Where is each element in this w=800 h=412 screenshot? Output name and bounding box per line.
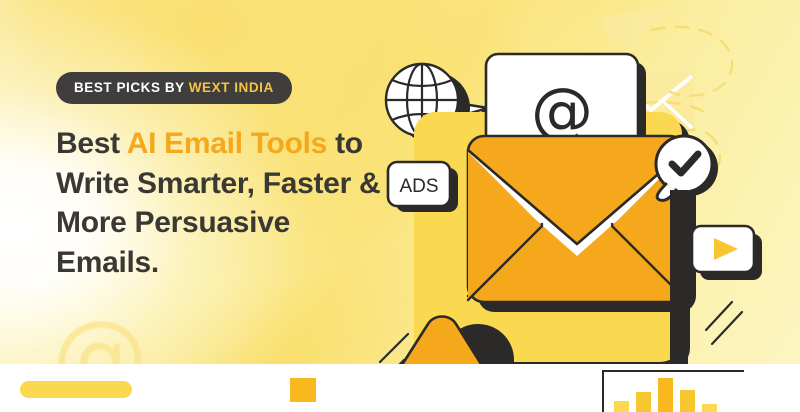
bar-chart-bars <box>614 370 736 412</box>
vertical-accent-bar <box>670 190 688 372</box>
play-button-icon <box>692 226 762 280</box>
bottom-strip <box>0 364 800 412</box>
headline-part-1: Best <box>56 127 127 160</box>
email-illustration: @ <box>370 0 800 412</box>
bar-chart-bar <box>636 392 651 412</box>
badge-brand: WEXT INDIA <box>189 80 274 95</box>
promotional-banner: @ BEST PICKS BY WEXT INDIA Best AI Email… <box>0 0 800 412</box>
badge-prefix: BEST PICKS BY <box>74 80 184 95</box>
eyebrow-badge: BEST PICKS BY WEXT INDIA <box>56 72 292 104</box>
decor-speed-lines-right <box>706 302 742 344</box>
decor-pale-paper-plane <box>602 4 670 56</box>
bar-chart-icon <box>602 370 744 412</box>
page-title: Best AI Email Tools to Write Smarter, Fa… <box>56 124 396 282</box>
square-shape <box>290 378 316 402</box>
bar-chart-bar <box>658 378 673 412</box>
ads-badge-label: ADS <box>399 176 438 197</box>
bar-chart-bar <box>680 390 695 412</box>
ads-badge: ADS <box>388 162 458 212</box>
bar-chart-bar <box>702 404 717 412</box>
copy-block: BEST PICKS BY WEXT INDIA Best AI Email T… <box>56 72 396 282</box>
headline-highlight: AI Email Tools <box>127 127 327 160</box>
pill-shape <box>20 381 132 398</box>
bar-chart-bar <box>614 401 629 412</box>
